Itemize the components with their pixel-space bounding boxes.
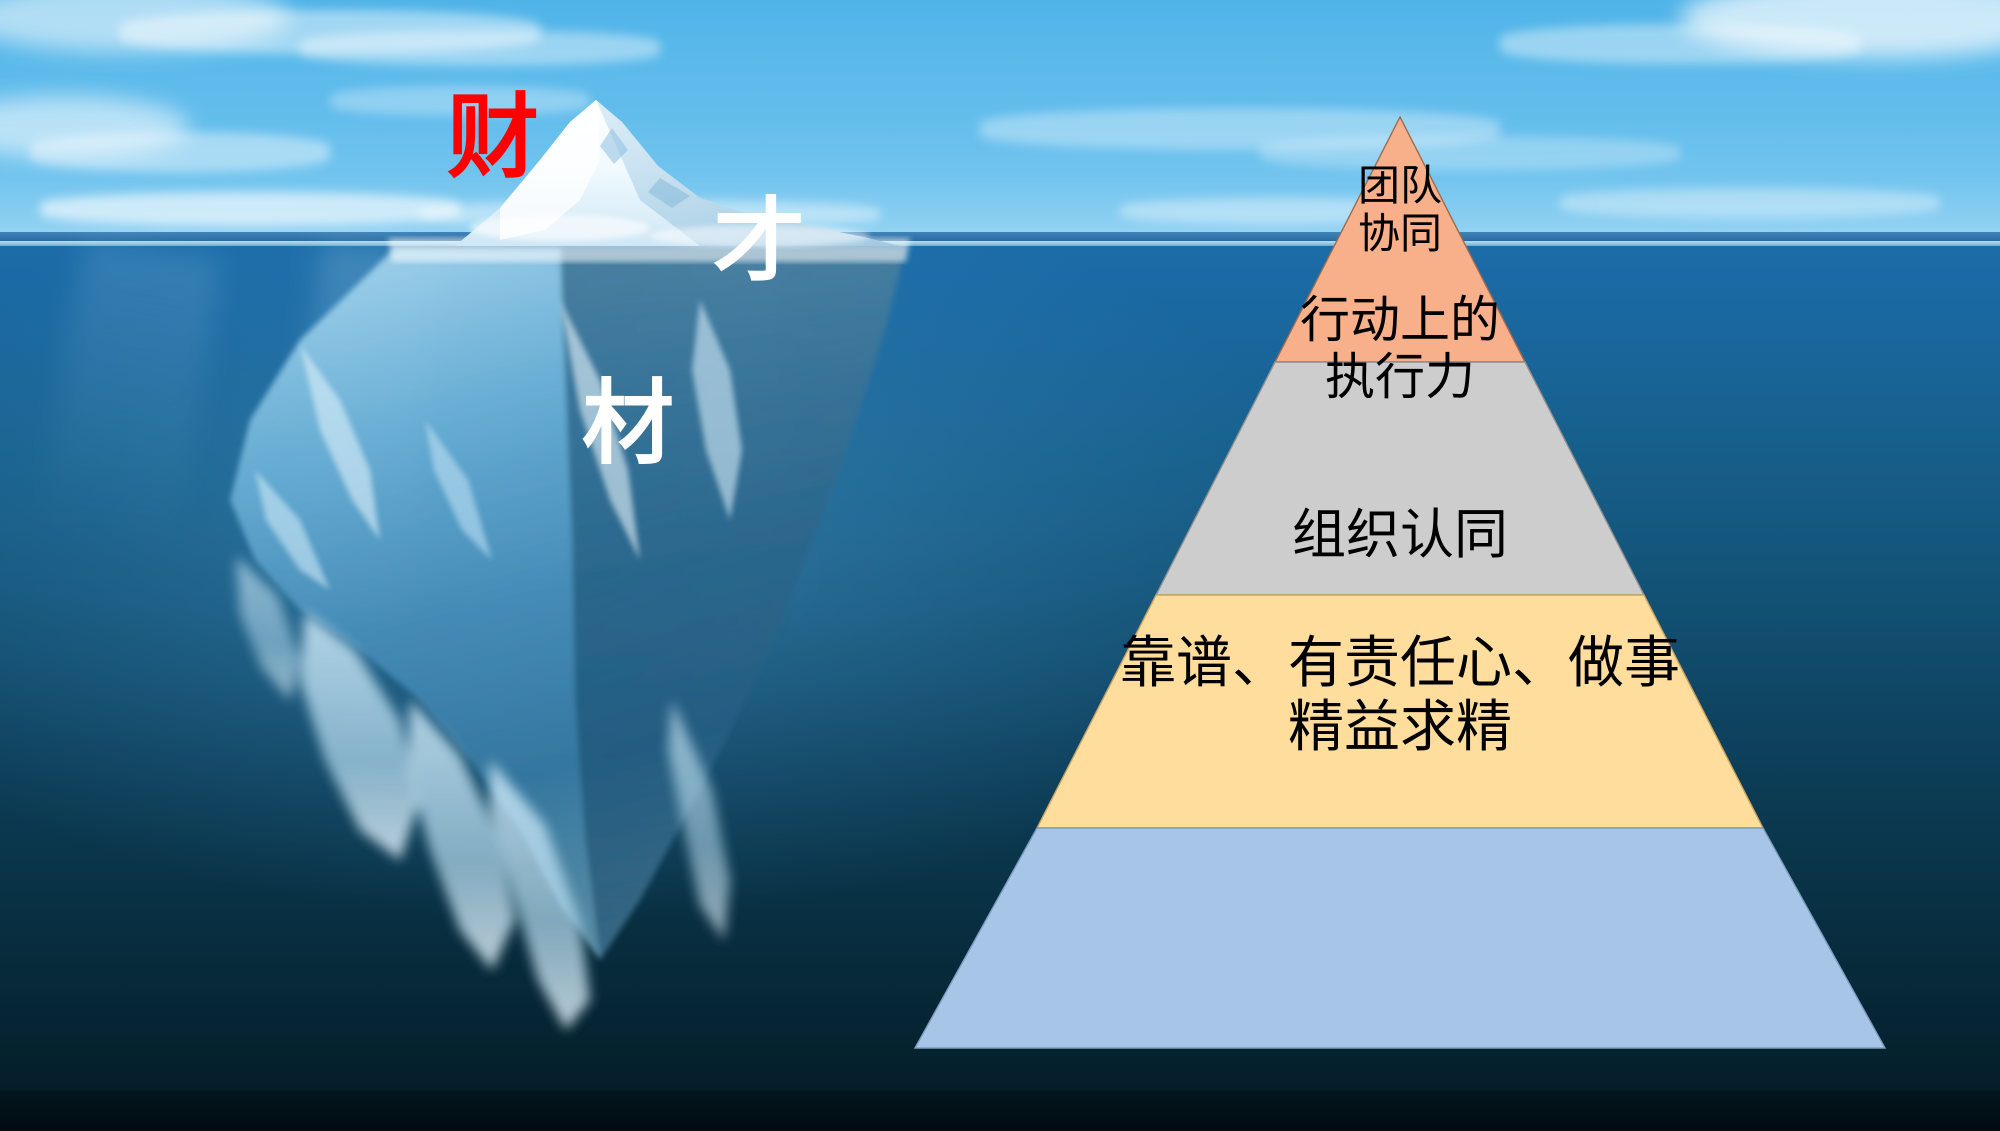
pyramid-level-0-shape (1275, 117, 1525, 362)
pyramid-level-1-shape (1156, 362, 1644, 595)
pyramid-level-2-shape (1037, 595, 1763, 828)
pyramid-level-3-shape (915, 828, 1885, 1048)
iceberg-label-deep-water: 材 (582, 378, 674, 470)
pyramid-diagram: 团队 协同 行动上的 执行力 组织认同 靠谱、有责任心、做事 精益求精 (885, 100, 1915, 1050)
iceberg-label-above-water: 财 (447, 92, 539, 184)
deep-sea-floor (0, 1090, 2000, 1131)
slide-canvas: 财 才 材 团队 协同 行动上的 执行力 组织认同 靠谱、有责任心、做事 精益求… (0, 0, 2000, 1131)
iceberg-label-at-waterline: 才 (713, 196, 805, 288)
